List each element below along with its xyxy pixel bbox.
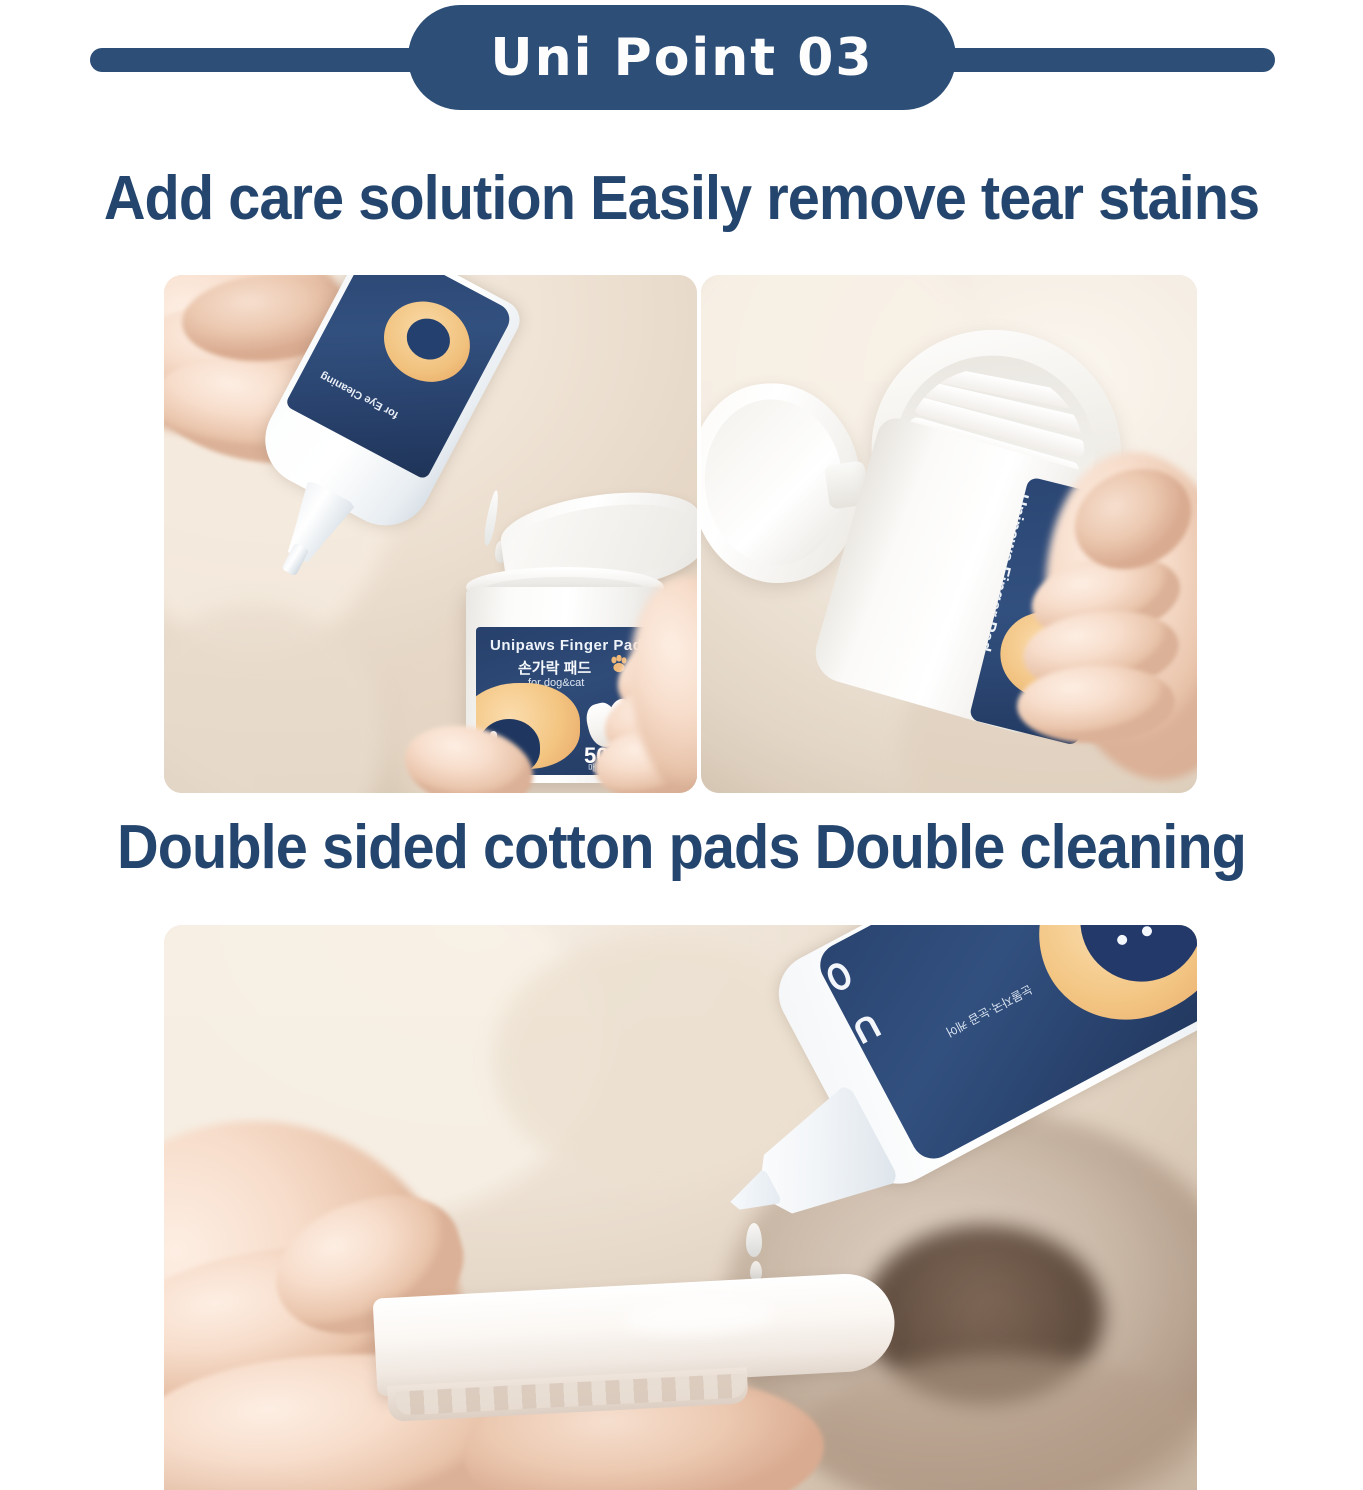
headline-add-care-solution: Add care solution Easily remove tear sta… [48,163,1316,234]
photo-open-jar: Unipaws Finger Pad [701,275,1197,793]
banner-pill: Uni Point 03 [408,5,956,110]
cotton-finger-pad [373,1271,900,1443]
headline-double-sided-cotton-pads: Double sided cotton pads Double cleaning [48,812,1316,883]
page-banner: Uni Point 03 [0,0,1363,125]
solution-droplet [746,1223,762,1257]
jar-label-title-ko: 손가락 패드 [518,657,591,678]
banner-title: Uni Point 03 [490,32,873,84]
photo-add-care-solution: for Eye Cleaning Unipaws Finger Pad 손가락 … [164,275,697,793]
bottle-label-ko-sub: 눈물자국·눈곱 케어 [943,981,1035,1041]
bottle-label-en: for Eye Cleaning [318,370,400,421]
photo-apply-to-pad: 아이 클린 Unipaws Eye Cleaning 눈물자국·눈곱 케어 반려… [164,925,1197,1490]
jar-label-title: Unipaws Finger Pad [490,637,642,654]
